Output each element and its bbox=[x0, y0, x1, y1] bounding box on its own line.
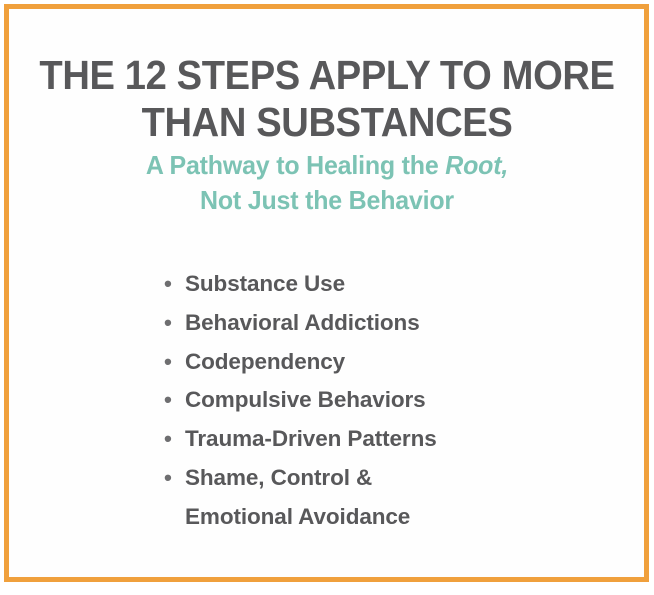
subtitle-line-2: Not Just the Behavior bbox=[200, 185, 454, 215]
bullet-dot-icon: • bbox=[164, 304, 172, 343]
slide-content: THE 12 STEPS APPLY TO MORE THAN SUBSTANC… bbox=[9, 9, 645, 577]
bullet-dot-icon: • bbox=[164, 381, 172, 420]
bullet-list: • Substance Use • Behavioral Addictions … bbox=[156, 265, 626, 537]
subtitle-line-1: A Pathway to Healing the Root, bbox=[146, 150, 508, 180]
list-item: • Compulsive Behaviors bbox=[156, 381, 626, 420]
bullet-dot-icon: • bbox=[164, 459, 172, 498]
list-item: • Substance Use bbox=[156, 265, 626, 304]
subtitle: A Pathway to Healing the Root, Not Just … bbox=[22, 148, 633, 218]
bullet-dot-icon: • bbox=[164, 265, 172, 304]
bullet-dot-icon: • bbox=[164, 420, 172, 459]
list-item: • Codependency bbox=[156, 343, 626, 382]
list-item: • Trauma-Driven Patterns bbox=[156, 420, 626, 459]
list-item-label: Compulsive Behaviors bbox=[185, 387, 426, 412]
list-item: • Behavioral Addictions bbox=[156, 304, 626, 343]
slide-canvas: THE 12 STEPS APPLY TO MORE THAN SUBSTANC… bbox=[0, 0, 654, 595]
bullet-dot-icon: • bbox=[164, 343, 172, 382]
list-item: • Shame, Control & Emotional Avoidance bbox=[156, 459, 626, 537]
list-item-label: Behavioral Addictions bbox=[185, 310, 420, 335]
list-item-label: Shame, Control & Emotional Avoidance bbox=[185, 465, 410, 529]
list-item-label: Codependency bbox=[185, 349, 345, 374]
list-item-label: Substance Use bbox=[185, 271, 345, 296]
subtitle-text-lead: A Pathway to Healing the bbox=[146, 150, 445, 180]
subtitle-emphasis-root: Root, bbox=[445, 150, 508, 180]
list-item-label: Trauma-Driven Patterns bbox=[185, 426, 437, 451]
page-title: THE 12 STEPS APPLY TO MORE THAN SUBSTANC… bbox=[31, 52, 622, 146]
